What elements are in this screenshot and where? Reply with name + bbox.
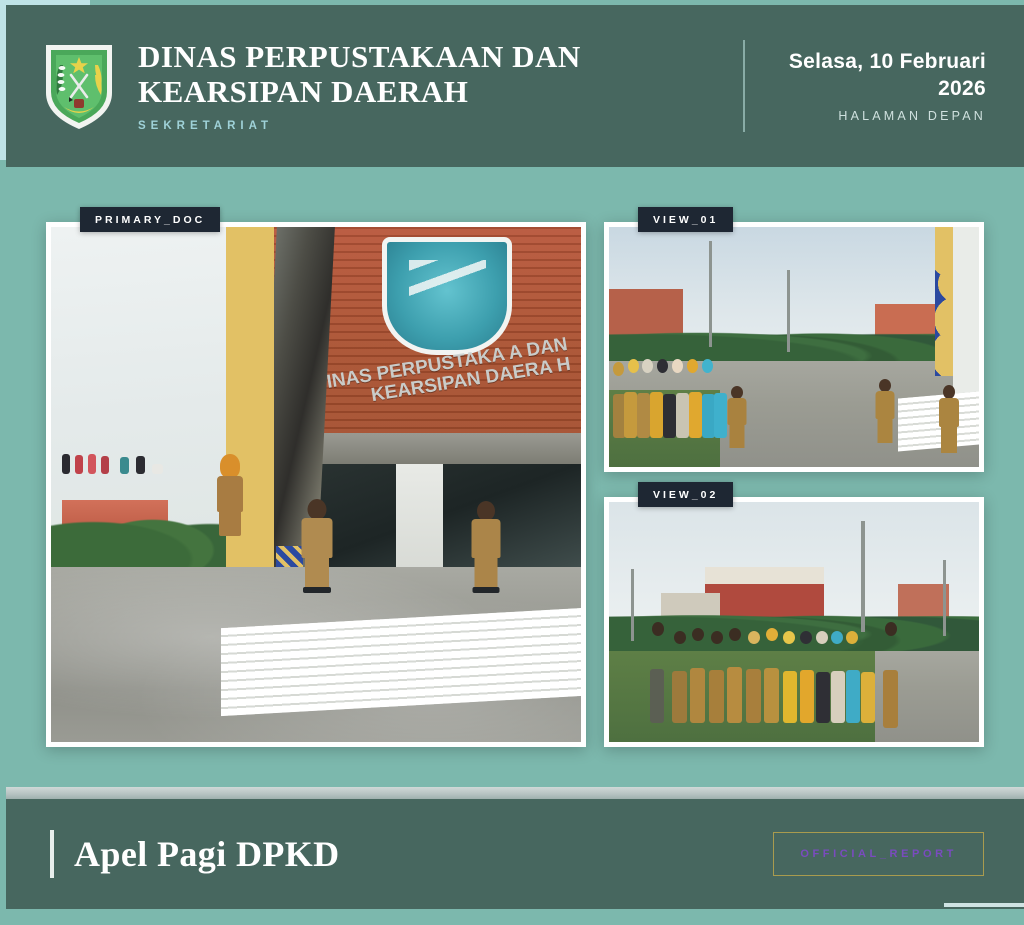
photo-scene-primary: DINAS PERPUSTAKA A DAN KEARSIPAN DAERA H: [51, 227, 581, 742]
brand-text: DINAS PERPUSTAKAAN DAN KEARSIPAN DAERAH …: [138, 40, 581, 131]
left-edge-accent: [0, 0, 6, 160]
government-shield-emblem-icon: [42, 41, 116, 131]
person-figure: [727, 386, 747, 448]
photo-scene-view-01: [609, 227, 979, 467]
footer-divider: [6, 787, 1024, 799]
photo-card-view-01[interactable]: VIEW_01: [604, 222, 984, 472]
person-figure: [215, 454, 245, 536]
page-footer: Apel Pagi DPKD OFFICIAL_REPORT: [6, 799, 1024, 909]
footer-accent-bar: [50, 830, 54, 878]
photo-tag-primary: PRIMARY_DOC: [80, 207, 220, 232]
photo-gallery: DINAS PERPUSTAKA A DAN KEARSIPAN DAERA H: [6, 167, 1024, 787]
status-badge[interactable]: OFFICIAL_REPORT: [773, 832, 984, 876]
bottom-right-edge-accent: [944, 903, 1024, 907]
header-meta-text: Selasa, 10 Februari 2026 HALAMAN DEPAN: [771, 49, 986, 123]
top-edge-accent: [6, 0, 90, 5]
photo-scene-view-02: [609, 502, 979, 742]
footer-title-block: Apel Pagi DPKD: [50, 830, 340, 878]
header-divider: [743, 40, 745, 132]
footer-title: Apel Pagi DPKD: [74, 833, 340, 875]
person-figure: [875, 379, 895, 443]
photo-frame: [604, 497, 984, 747]
photo-card-primary[interactable]: DINAS PERPUSTAKA A DAN KEARSIPAN DAERA H: [46, 222, 586, 747]
person-figure: [938, 385, 959, 453]
page-header: DINAS PERPUSTAKAAN DAN KEARSIPAN DAERAH …: [6, 5, 1024, 167]
photo-card-view-02[interactable]: VIEW_02: [604, 497, 984, 747]
org-subtitle: SEKRETARIAT: [138, 120, 581, 132]
header-meta: Selasa, 10 Februari 2026 HALAMAN DEPAN: [743, 40, 986, 132]
photo-tag-view-02: VIEW_02: [638, 482, 733, 507]
person-figure: [300, 499, 334, 593]
photo-frame: [604, 222, 984, 472]
page-title: DINAS PERPUSTAKAAN DAN KEARSIPAN DAERAH: [138, 40, 581, 109]
header-page-label: HALAMAN DEPAN: [771, 109, 986, 123]
brand-block: DINAS PERPUSTAKAAN DAN KEARSIPAN DAERAH …: [42, 40, 743, 131]
person-figure: [470, 501, 502, 593]
header-date: Selasa, 10 Februari 2026: [771, 49, 986, 102]
photo-frame: DINAS PERPUSTAKA A DAN KEARSIPAN DAERA H: [46, 222, 586, 747]
photo-tag-view-01: VIEW_01: [638, 207, 733, 232]
